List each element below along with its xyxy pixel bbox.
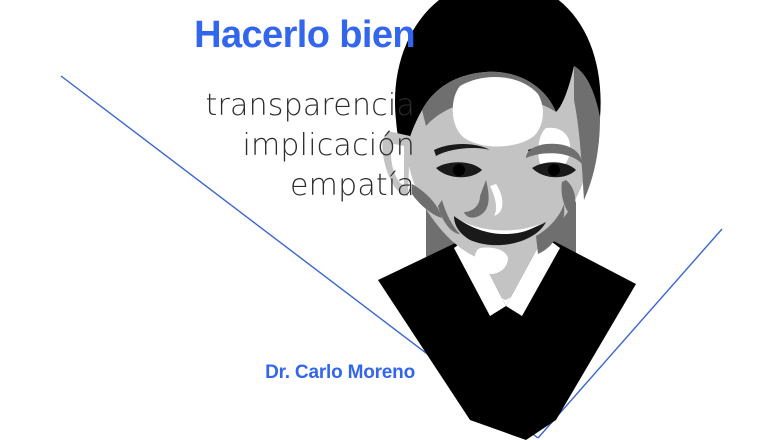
portrait-pupil-left xyxy=(453,164,465,176)
portrait-pupil-right xyxy=(548,164,560,176)
value-line-empatia: empatía xyxy=(0,166,415,206)
byline-block: Dr. Carlo Moreno xyxy=(0,362,415,384)
poster-canvas: Vectorized grayscale portrait of a smili… xyxy=(0,0,780,440)
portrait-forehead-highlight xyxy=(453,77,543,147)
value-line-transparencia: transparencia xyxy=(0,86,415,126)
value-line-implicacion: implicación xyxy=(0,126,415,166)
author-name: Dr. Carlo Moreno xyxy=(0,362,415,384)
headline-block: Hacerlo bien xyxy=(0,16,415,56)
page-title: Hacerlo bien xyxy=(0,16,415,56)
values-block: transparencia implicación empatía xyxy=(0,86,415,206)
